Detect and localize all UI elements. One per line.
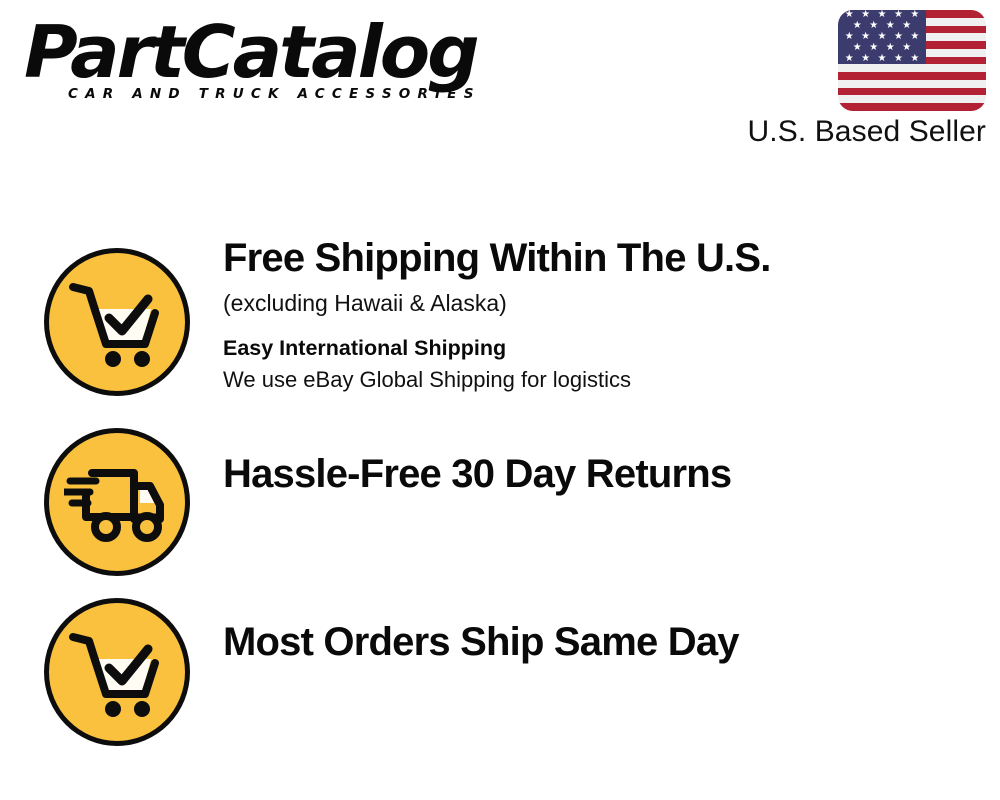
star-icon: ★	[869, 21, 878, 31]
star-icon: ★	[861, 54, 870, 64]
star-icon: ★	[910, 10, 919, 20]
us-based-seller-badge: ★ ★ ★ ★ ★ ★ ★ ★ ★ ★ ★ ★ ★ ★	[716, 10, 986, 149]
shopping-cart-check-icon	[44, 598, 190, 746]
star-icon: ★	[910, 32, 919, 42]
star-icon: ★	[894, 32, 903, 42]
star-icon: ★	[853, 21, 862, 31]
star-icon: ★	[853, 43, 862, 53]
feature-subtitle: (excluding Hawaii & Alaska)	[223, 288, 980, 319]
star-icon: ★	[886, 43, 895, 53]
star-icon: ★	[886, 21, 895, 31]
star-icon: ★	[861, 32, 870, 42]
feature-title: Free Shipping Within The U.S.	[223, 236, 980, 280]
brand-logo[interactable]: PartCatalog CAR AND TRUCK ACCESSORIES	[24, 22, 494, 102]
feature-title: Hassle-Free 30 Day Returns	[223, 452, 980, 496]
star-icon: ★	[902, 21, 911, 31]
delivery-truck-icon	[44, 428, 190, 576]
feature-text-block: Most Orders Ship Same Day	[223, 620, 980, 664]
feature-text-block: Hassle-Free 30 Day Returns	[223, 452, 980, 496]
feature-row: Hassle-Free 30 Day Returns	[0, 422, 1000, 594]
feature-list: Free Shipping Within The U.S. (excluding…	[0, 236, 1000, 754]
us-flag-icon: ★ ★ ★ ★ ★ ★ ★ ★ ★ ★ ★ ★ ★ ★	[838, 10, 986, 111]
feature-secondary-subtitle: We use eBay Global Shipping for logistic…	[223, 366, 980, 395]
star-icon: ★	[894, 10, 903, 20]
feature-text-block: Free Shipping Within The U.S. (excluding…	[223, 236, 980, 395]
star-icon: ★	[861, 10, 870, 20]
flag-star-row: ★ ★ ★ ★ ★	[838, 32, 926, 43]
feature-title: Most Orders Ship Same Day	[223, 620, 980, 664]
star-icon: ★	[845, 32, 854, 42]
promo-banner: PartCatalog CAR AND TRUCK ACCESSORIES	[0, 0, 1000, 800]
shopping-cart-check-icon	[44, 248, 190, 396]
star-icon: ★	[878, 10, 887, 20]
star-icon: ★	[910, 54, 919, 64]
us-based-seller-label: U.S. Based Seller	[716, 115, 986, 149]
brand-wordmark: PartCatalog	[24, 22, 503, 84]
star-icon: ★	[878, 54, 887, 64]
flag-star-row: ★ ★ ★ ★	[838, 43, 926, 54]
star-icon: ★	[878, 32, 887, 42]
feature-row: Free Shipping Within The U.S. (excluding…	[0, 236, 1000, 422]
flag-star-row: ★ ★ ★ ★	[838, 21, 926, 32]
star-icon: ★	[845, 54, 854, 64]
star-icon: ★	[902, 43, 911, 53]
star-icon: ★	[869, 43, 878, 53]
star-icon: ★	[845, 10, 854, 20]
flag-star-row: ★ ★ ★ ★ ★	[838, 10, 926, 21]
feature-row: Most Orders Ship Same Day	[0, 594, 1000, 754]
feature-secondary-title: Easy International Shipping	[223, 335, 980, 363]
star-icon: ★	[894, 54, 903, 64]
flag-star-row: ★ ★ ★ ★ ★	[838, 54, 926, 65]
flag-canton: ★ ★ ★ ★ ★ ★ ★ ★ ★ ★ ★ ★ ★ ★	[838, 10, 926, 64]
